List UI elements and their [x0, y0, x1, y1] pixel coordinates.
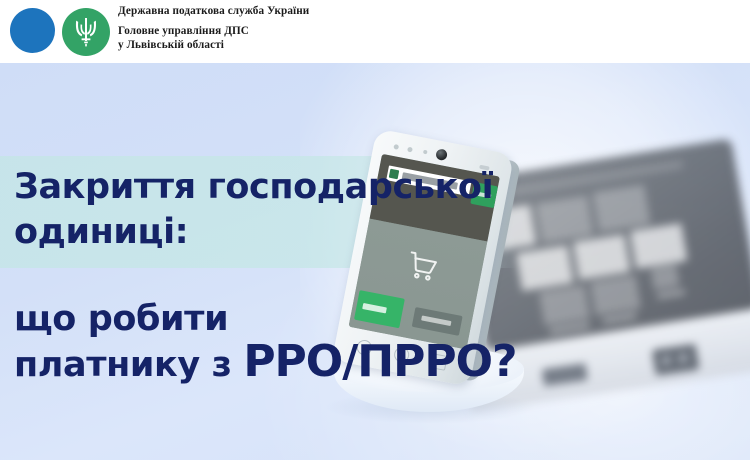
headline-secondary-line-1: що робити [14, 298, 228, 340]
headline-primary: Закриття господарської одиниці: [14, 165, 534, 255]
organization-title: Державна податкова служба України [118, 5, 518, 18]
terminal-sensor-icon [393, 144, 399, 150]
poster-banner: Державна податкова служба України Головн… [0, 0, 750, 460]
app-tile [535, 196, 593, 244]
app-tile-label [602, 313, 636, 323]
app-tile [590, 275, 641, 316]
headline-secondary-line-2: платнику з РРО/ПРРО? [14, 340, 517, 387]
app-tile [539, 285, 590, 326]
app-tile-label [657, 290, 686, 299]
app-tile [573, 234, 631, 280]
app-tile-label [549, 323, 589, 334]
banner-hero: Закриття господарської одиниці: що робит… [0, 63, 750, 460]
tryzub-icon [62, 8, 110, 56]
terminal-sensor-icon [407, 147, 413, 153]
headline-acronym: РРО/ПРРО? [243, 336, 516, 387]
agency-logo [8, 6, 114, 58]
logo-blue-circle-icon [10, 8, 55, 53]
terminal-camera-icon [435, 148, 448, 161]
headline-secondary-prefix: платнику з [14, 345, 243, 385]
site-header: Державна податкова служба України Головн… [0, 0, 750, 63]
terminal-sensor-icon [423, 150, 428, 155]
app-tile [630, 223, 688, 269]
app-tile [592, 185, 650, 233]
app-tile [650, 265, 679, 291]
department-title: Головне управління ДПС у Львівській обла… [118, 25, 518, 52]
terminal-confirm-button[interactable] [354, 290, 405, 328]
header-text-block: Державна податкова служба України Головн… [118, 5, 518, 52]
terminal-secondary-button[interactable] [412, 307, 463, 336]
